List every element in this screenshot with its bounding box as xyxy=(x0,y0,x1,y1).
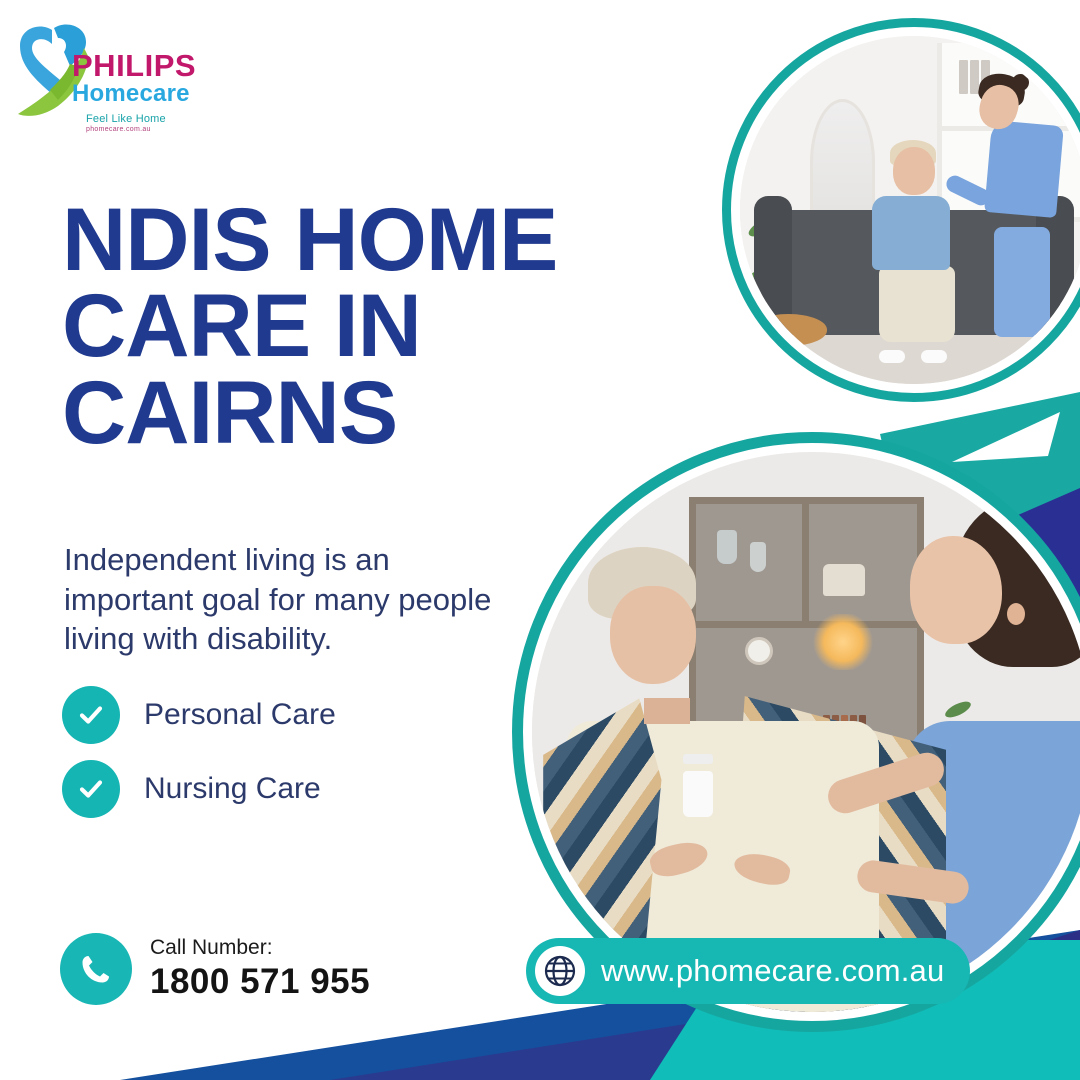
list-item: Personal Care xyxy=(62,686,336,744)
hero-subcopy: Independent living is an important goal … xyxy=(64,540,524,659)
call-number-text: Call Number: 1800 571 955 xyxy=(150,936,370,1002)
feature-label: Nursing Care xyxy=(144,772,321,806)
call-number-value: 1800 571 955 xyxy=(150,962,370,1002)
scene-nurse-with-elderly-woman-pill-bottle xyxy=(532,452,1080,1012)
brand-url-small: phomecare.com.au xyxy=(86,126,196,133)
photo-bottom-inner xyxy=(532,452,1080,1012)
call-number-block[interactable]: Call Number: 1800 571 955 xyxy=(60,933,370,1005)
website-pill[interactable]: www.phomecare.com.au xyxy=(526,938,970,1004)
poster-canvas: PHILIPS Homecare Feel Like Home phomecar… xyxy=(0,0,1080,1080)
website-url: www.phomecare.com.au xyxy=(601,953,944,989)
feature-list: Personal Care Nursing Care xyxy=(62,686,336,834)
globe-icon xyxy=(535,946,585,996)
page-title: NDIS HOME CARE IN CAIRNS xyxy=(62,196,702,455)
scene-nurse-assisting-elderly-woman xyxy=(740,36,1080,384)
brand-name-primary: PHILIPS xyxy=(72,50,196,81)
brand-logo-text: PHILIPS Homecare Feel Like Home phomecar… xyxy=(72,50,196,133)
photo-circle-top xyxy=(722,18,1080,402)
photo-top-inner xyxy=(740,36,1080,384)
check-icon xyxy=(62,686,120,744)
call-number-label: Call Number: xyxy=(150,936,370,960)
list-item: Nursing Care xyxy=(62,760,336,818)
phone-icon xyxy=(60,933,132,1005)
brand-tagline: Feel Like Home xyxy=(86,113,196,125)
brand-logo[interactable]: PHILIPS Homecare Feel Like Home phomecar… xyxy=(14,22,214,134)
feature-label: Personal Care xyxy=(144,698,336,732)
brand-name-secondary: Homecare xyxy=(72,81,196,106)
check-icon xyxy=(62,760,120,818)
